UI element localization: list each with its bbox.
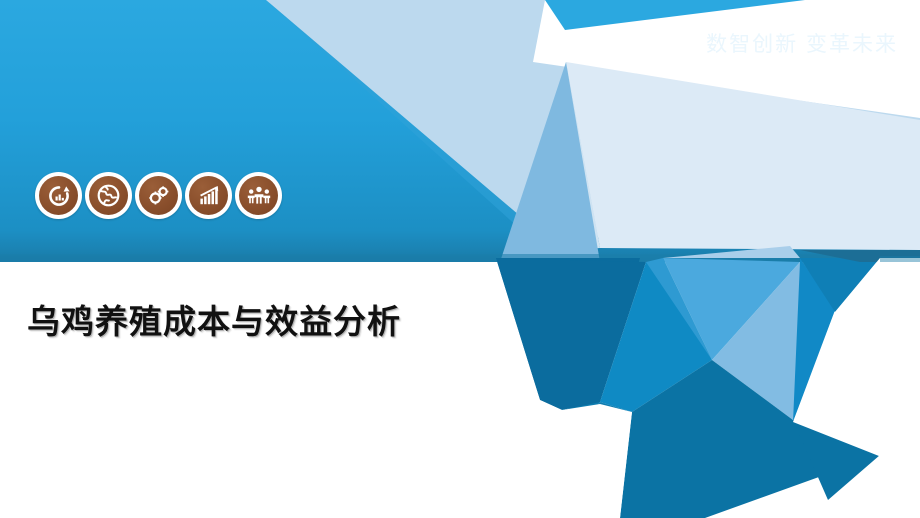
presentation-slide: 数智创新 变革未来: [0, 0, 920, 518]
icon-badge-globe[interactable]: [85, 172, 132, 219]
bar-chart-growth-icon: [189, 176, 228, 215]
globe-icon: [89, 176, 128, 215]
refresh-growth-icon: [39, 176, 78, 215]
low-poly-decoration: [0, 0, 920, 518]
slide-tagline: 数智创新 变革未来: [706, 28, 898, 58]
people-group-icon: [239, 176, 278, 215]
icon-row: [35, 172, 282, 219]
icon-badge-people-group[interactable]: [235, 172, 282, 219]
icon-badge-gears[interactable]: [135, 172, 182, 219]
page-title: 乌鸡养殖成本与效益分析: [27, 295, 401, 343]
icon-badge-bar-chart-growth[interactable]: [185, 172, 232, 219]
poly-band-edge-right: [880, 256, 920, 262]
icon-badge-refresh-growth[interactable]: [35, 172, 82, 219]
poly-band-edge: [0, 256, 496, 262]
gears-icon: [139, 176, 178, 215]
